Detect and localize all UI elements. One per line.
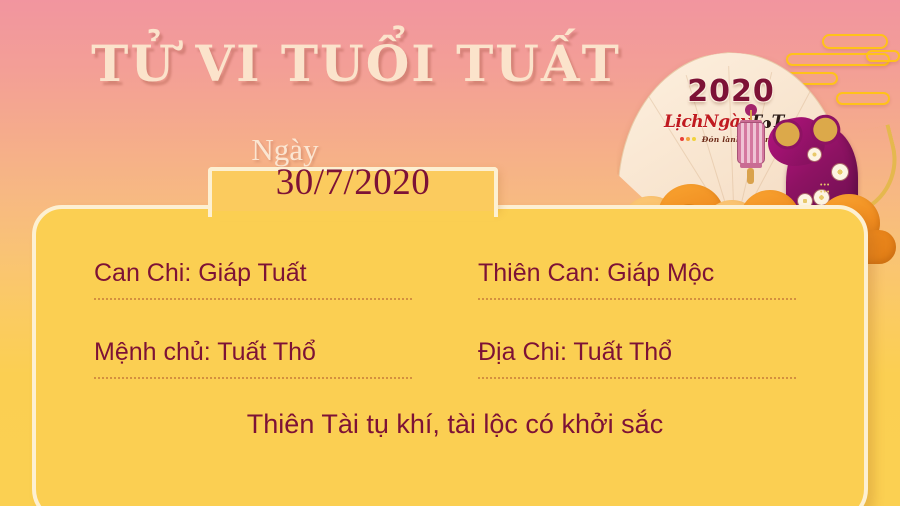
logo-text-lich: Lịch	[664, 112, 703, 132]
attribute-menh-chu: Mệnh chủ: Tuất Thổ	[94, 338, 432, 377]
attribute-cell-can-chi: Can Chi: Giáp Tuất	[94, 249, 432, 328]
divider	[478, 298, 796, 300]
banner-canvas: TỬ VI TUỔI TUẤT Ngày 2020 LịchNgàyTT.com…	[0, 0, 900, 506]
attribute-grid: Can Chi: Giáp Tuất Thiên Can: Giáp Mộc M…	[94, 249, 816, 407]
fortune-summary: Thiên Tài tụ khí, tài lộc có khởi sắc	[94, 409, 816, 440]
date-notch-fill	[212, 211, 494, 221]
divider	[478, 377, 796, 379]
attribute-cell-dia-chi: Địa Chi: Tuất Thổ	[478, 328, 816, 407]
attribute-cell-thien-can: Thiên Can: Giáp Mộc	[478, 249, 816, 328]
tricolor-dots-icon	[680, 134, 698, 143]
attribute-dia-chi: Địa Chi: Tuất Thổ	[478, 338, 816, 377]
attribute-can-chi: Can Chi: Giáp Tuất	[94, 259, 432, 298]
date-value: 30/7/2020	[212, 161, 494, 204]
divider	[94, 298, 412, 300]
attribute-thien-can: Thiên Can: Giáp Mộc	[478, 259, 816, 298]
divider	[94, 377, 412, 379]
attribute-cell-menh-chu: Mệnh chủ: Tuất Thổ	[94, 328, 432, 407]
page-title: TỬ VI TUỔI TUẤT	[86, 34, 626, 93]
info-card: 30/7/2020 Can Chi: Giáp Tuất Thiên Can: …	[32, 205, 868, 506]
